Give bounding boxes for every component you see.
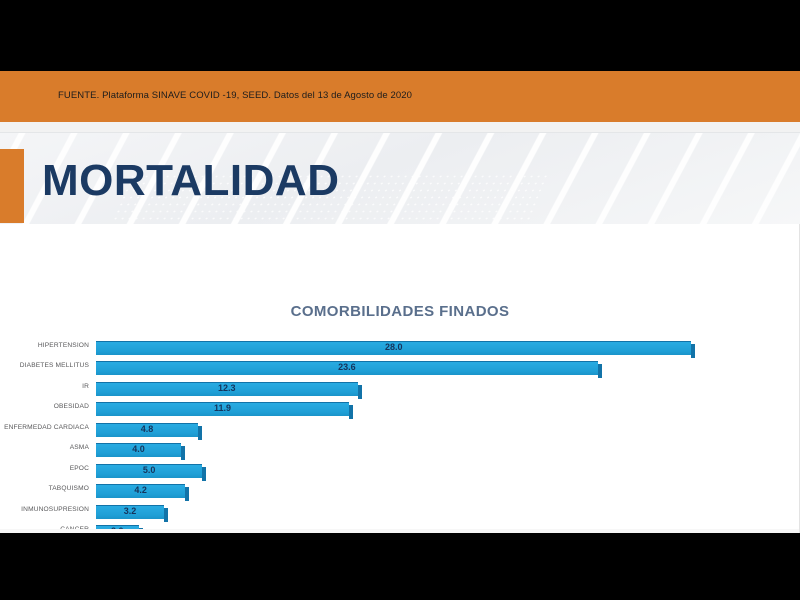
bar-row: IR12.3 [96, 380, 734, 400]
category-label: ASMA [70, 444, 89, 451]
bars-container: HIPERTENSION28.0DIABETES MELLITUS23.6IR1… [96, 339, 734, 533]
bar-value-label: 4.0 [132, 444, 145, 454]
category-label: HIPERTENSION [38, 342, 89, 349]
page-title: MORTALIDAD [42, 155, 339, 207]
bar-value-label: 4.2 [134, 485, 147, 495]
bar-row: OBESIDAD11.9 [96, 400, 734, 420]
slide-viewer: FUENTE. Plataforma SINAVE COVID -19, SEE… [0, 0, 800, 600]
bar-row: ASMA4.0 [96, 441, 734, 461]
bar-row: EPOC5.0 [96, 462, 734, 482]
title-accent-bar [0, 149, 24, 223]
bar-value-label: 12.3 [218, 383, 236, 393]
bar-row: HIPERTENSION28.0 [96, 339, 734, 359]
bar-value-label: 28.0 [385, 342, 403, 352]
letterbox-top [0, 0, 800, 71]
source-text: FUENTE. Plataforma SINAVE COVID -19, SEE… [58, 90, 412, 101]
source-band: FUENTE. Plataforma SINAVE COVID -19, SEE… [0, 71, 800, 122]
chart-panel: COMORBILIDADES FINADOS HIPERTENSION28.0D… [0, 224, 800, 533]
letterbox-bottom [0, 533, 800, 600]
bar-value-label: 3.2 [124, 506, 137, 516]
bar-chart-plot: HIPERTENSION28.0DIABETES MELLITUS23.6IR1… [96, 339, 734, 533]
bar-value-label: 4.8 [141, 424, 154, 434]
category-label: TABQUISMO [49, 485, 89, 492]
presentation-slide: FUENTE. Plataforma SINAVE COVID -19, SEE… [0, 71, 800, 533]
category-label: OBESIDAD [54, 403, 89, 410]
chart-title: COMORBILIDADES FINADOS [0, 303, 800, 320]
bar-row: INMUNOSUPRESION3.2 [96, 503, 734, 523]
category-label: EPOC [70, 465, 89, 472]
bar-row: DIABETES MELLITUS23.6 [96, 359, 734, 379]
band-gap [0, 122, 800, 132]
bar-value-label: 11.9 [214, 403, 231, 413]
category-label: DIABETES MELLITUS [20, 362, 89, 369]
category-label: ENFERMEDAD CARDIACA [4, 424, 89, 431]
category-label: INMUNOSUPRESION [21, 506, 89, 513]
bar-row: TABQUISMO4.2 [96, 482, 734, 502]
category-label: IR [82, 383, 89, 390]
bar-value-label: 23.6 [338, 362, 356, 372]
bar-row: ENFERMEDAD CARDIACA4.8 [96, 421, 734, 441]
bar-value-label: 5.0 [143, 465, 156, 475]
slide-header: MORTALIDAD [0, 132, 800, 226]
